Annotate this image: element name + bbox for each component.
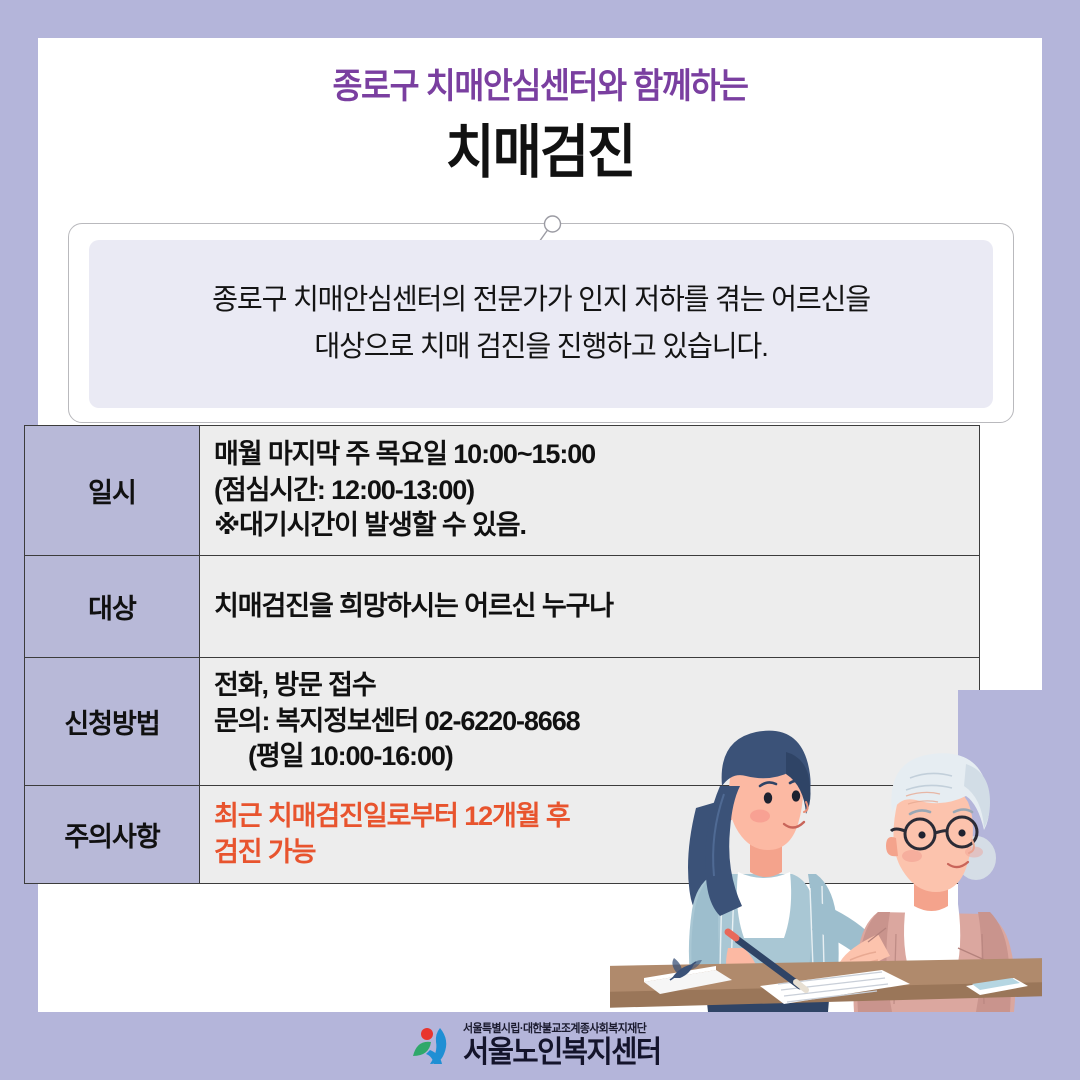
logo-text-block: 서울특별시립·대한불교조계종사회복지재단 서울노인복지센터 (463, 1024, 671, 1069)
page-title: 치매검진 (78, 123, 1002, 184)
ilsi-line-2: (점심시간: 12:00-13:00) (214, 475, 474, 505)
description-line-1: 종로구 치매안심센터의 전문가가 인지 저하를 겪는 어르신을 (212, 284, 870, 316)
ilsi-line-3: ※대기시간이 발생할 수 있음. (214, 510, 526, 540)
row-value-daesang: 치매검진을 희망하시는 어르신 누구나 (200, 556, 980, 658)
notice-line-1: 최근 치매검진일로부터 12개월 후 (214, 801, 570, 831)
table-row: 대상 치매검진을 희망하시는 어르신 누구나 (25, 556, 980, 658)
row-label-ilsi: 일시 (25, 426, 200, 556)
apply-line-2: 문의: 복지정보센터 02-6220-8668 (214, 706, 580, 736)
table-row: 일시 매월 마지막 주 목요일 10:00~15:00 (점심시간: 12:00… (25, 426, 980, 556)
notice-line-2: 검진 가능 (214, 837, 315, 867)
poster-root: 종로구 치매안심센터와 함께하는 치매검진 종로구 치매안심센터의 전문가가 인… (0, 0, 1080, 1080)
row-label-apply: 신청방법 (25, 658, 200, 786)
ilsi-line-1: 매월 마지막 주 목요일 10:00~15:00 (214, 439, 595, 469)
description-text: 종로구 치매안심센터의 전문가가 인지 저하를 겪는 어르신을 대상으로 치매 … (187, 277, 895, 371)
footer-logo: 서울특별시립·대한불교조계종사회복지재단 서울노인복지센터 (0, 1012, 1080, 1080)
title-subtitle: 종로구 치매안심센터와 함께하는 (73, 68, 1007, 107)
description-line-2: 대상으로 치매 검진을 진행하고 있습니다. (314, 331, 767, 363)
title-block: 종로구 치매안심센터와 함께하는 치매검진 (38, 38, 1042, 183)
row-label-notice: 주의사항 (25, 786, 200, 884)
counseling-illustration (610, 690, 1080, 1012)
description-card: 종로구 치매안심센터의 전문가가 인지 저하를 겪는 어르신을 대상으로 치매 … (68, 223, 1014, 423)
apply-line-1: 전화, 방문 접수 (214, 670, 376, 700)
logo-org-main: 서울노인복지센터 (463, 1038, 661, 1068)
description-inner: 종로구 치매안심센터의 전문가가 인지 저하를 겪는 어르신을 대상으로 치매 … (89, 240, 993, 408)
row-label-daesang: 대상 (25, 556, 200, 658)
apply-line-3: (평일 10:00-16:00) (214, 739, 453, 775)
logo-org-top: 서울특별시립·대한불교조계종사회복지재단 (463, 1024, 661, 1036)
row-value-ilsi: 매월 마지막 주 목요일 10:00~15:00 (점심시간: 12:00-13… (200, 426, 980, 556)
seoul-logo-icon (410, 1026, 454, 1066)
